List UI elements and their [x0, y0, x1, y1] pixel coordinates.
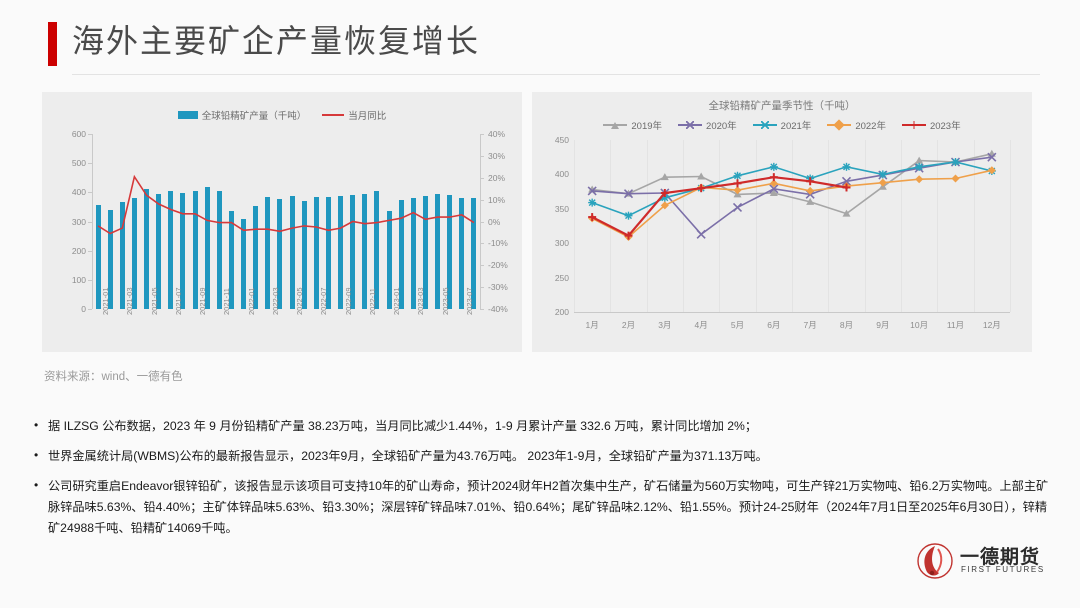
yoy-line-series	[92, 134, 480, 309]
line-swatch-icon	[902, 120, 926, 130]
data-point-marker	[588, 199, 596, 207]
x-axis-tick-label: 5月	[722, 319, 754, 331]
brand-logo: 一德期货 FIRST FUTURES	[916, 540, 1056, 586]
line-swatch-icon	[678, 120, 702, 130]
x-axis-tick-label: 1月	[576, 319, 608, 331]
data-point-marker	[988, 150, 996, 157]
x-axis-tick-label: 2021-03	[125, 287, 134, 315]
left-chart-legend: 全球铅精矿产量（千吨）当月同比	[42, 108, 522, 122]
y2-axis-tick-label: 20%	[488, 173, 518, 183]
x-axis-tick-label: 3月	[649, 319, 681, 331]
x-axis-tick-label: 11月	[940, 319, 972, 331]
y2-axis-tick-label: 10%	[488, 195, 518, 205]
y-axis-tick-label: 0	[60, 304, 86, 314]
x-axis-tick-label: 2022-05	[295, 287, 304, 315]
data-point-marker	[770, 173, 778, 181]
logo-emblem-icon	[916, 542, 954, 580]
x-axis-tick-label: 2022-01	[247, 287, 256, 315]
x-axis-tick-label: 7月	[794, 319, 826, 331]
x-axis-line	[574, 312, 1010, 313]
y2-axis-tick-label: 0%	[488, 217, 518, 227]
right-chart-plot: 2002503003504004501月2月3月4月5月6月7月8月9月10月1…	[574, 140, 1010, 312]
title-divider	[72, 74, 1040, 75]
x-axis-tick-label: 10月	[903, 319, 935, 331]
x-axis-tick-label: 2022-07	[319, 287, 328, 315]
data-point-marker	[625, 212, 633, 220]
right-chart-legend: 2019年2020年2021年2022年2023年	[532, 118, 1032, 132]
x-axis-tick-label: 2021-05	[150, 287, 159, 315]
list-item: 公司研究重启Endeavor银锌铅矿，该报告显示该项目可支持10年的矿山寿命，预…	[30, 476, 1050, 539]
left-chart-plot: 0100200300400500600-40%-30%-20%-10%0%10%…	[92, 134, 480, 309]
y-axis-tick-label: 100	[60, 275, 86, 285]
y-axis-tick-label: 400	[544, 169, 569, 179]
y-axis-tick-label: 500	[60, 158, 86, 168]
y-axis-tick-label: 600	[60, 129, 86, 139]
legend-label: 2021年	[781, 118, 812, 132]
legend-item-line: 当月同比	[322, 108, 386, 122]
legend-label: 2022年	[855, 118, 886, 132]
grid-line	[1010, 140, 1011, 312]
x-axis-tick-label: 2022-09	[344, 287, 353, 315]
line-swatch-icon	[753, 120, 777, 130]
x-axis-tick-label: 2023-05	[441, 287, 450, 315]
x-axis-tick-label: 2022-11	[368, 288, 377, 315]
y2-axis-tick-mark	[480, 309, 484, 310]
right-chart-title: 全球铅精矿产量季节性（千吨）	[532, 98, 1032, 113]
data-point-marker	[734, 179, 742, 187]
line-2020年	[592, 157, 992, 234]
data-point-marker	[952, 175, 960, 183]
x-axis-tick-label: 2023-07	[465, 287, 474, 315]
bar-swatch-icon	[178, 111, 198, 119]
y2-axis-tick-label: 40%	[488, 129, 518, 139]
list-item: 世界金属统计局(WBMS)公布的最新报告显示，2023年9月，全球铅矿产量为43…	[30, 446, 1050, 467]
y2-axis-tick-label: -30%	[488, 282, 518, 292]
data-point-marker	[843, 163, 851, 171]
x-axis-tick-label: 2021-01	[101, 287, 110, 315]
x-axis-tick-label: 2021-11	[222, 288, 231, 315]
logo-text-en: FIRST FUTURES	[961, 565, 1045, 574]
legend-item-bars: 全球铅精矿产量（千吨）	[178, 108, 307, 122]
legend-label: 2020年	[706, 118, 737, 132]
x-axis-tick-label: 2022-03	[271, 287, 280, 315]
line-swatch-icon	[322, 114, 344, 116]
y-axis-right-line	[480, 134, 481, 309]
y-axis-tick-label: 300	[60, 217, 86, 227]
seasonality-series-layer	[574, 140, 1010, 312]
data-point-marker	[915, 163, 923, 171]
x-axis-tick-label: 6月	[758, 319, 790, 331]
y2-axis-tick-label: -20%	[488, 260, 518, 270]
title-accent-bar	[48, 22, 57, 66]
legend-item-2023年: 2023年	[902, 118, 961, 132]
left-chart-panel: 全球铅精矿产量（千吨）当月同比 0100200300400500600-40%-…	[42, 92, 522, 352]
list-item: 据 ILZSG 公布数据，2023 年 9 月份铅精矿产量 38.23万吨，当月…	[30, 416, 1050, 437]
legend-item-2022年: 2022年	[827, 118, 886, 132]
x-axis-tick-label: 4月	[685, 319, 717, 331]
slide-header: 海外主要矿企产量恢复增长	[0, 18, 1080, 70]
y-axis-tick-label: 200	[544, 307, 569, 317]
legend-item-2021年: 2021年	[753, 118, 812, 132]
legend-label: 2019年	[631, 118, 662, 132]
line-swatch-icon	[603, 120, 627, 130]
x-axis-tick-label: 2023-01	[392, 287, 401, 315]
y2-axis-tick-label: -10%	[488, 238, 518, 248]
slide: 海外主要矿企产量恢复增长 全球铅精矿产量（千吨）当月同比 01002003004…	[0, 0, 1080, 608]
y2-axis-tick-label: 30%	[488, 151, 518, 161]
y2-axis-tick-label: -40%	[488, 304, 518, 314]
x-axis-tick-label: 9月	[867, 319, 899, 331]
y-axis-tick-mark	[88, 309, 92, 310]
data-point-marker	[915, 175, 923, 183]
y-axis-tick-label: 400	[60, 187, 86, 197]
line-2023年	[592, 177, 846, 235]
legend-label: 当月同比	[348, 108, 386, 122]
x-axis-tick-label: 8月	[831, 319, 863, 331]
y-axis-tick-label: 450	[544, 135, 569, 145]
data-point-marker	[770, 163, 778, 171]
data-point-marker	[734, 203, 742, 211]
y-axis-tick-label: 350	[544, 204, 569, 214]
x-axis-tick-label: 2023-03	[416, 287, 425, 315]
page-title: 海外主要矿企产量恢复增长	[72, 18, 480, 64]
x-axis-tick-label: 2月	[613, 319, 645, 331]
x-axis-tick-label: 2021-09	[198, 287, 207, 315]
y-axis-tick-label: 300	[544, 238, 569, 248]
bullet-list: 据 ILZSG 公布数据，2023 年 9 月份铅精矿产量 38.23万吨，当月…	[30, 416, 1050, 548]
y-axis-tick-label: 250	[544, 273, 569, 283]
data-point-marker	[952, 158, 960, 166]
legend-item-2019年: 2019年	[603, 118, 662, 132]
y-axis-tick-label: 200	[60, 246, 86, 256]
line-swatch-icon	[827, 120, 851, 130]
x-axis-tick-label: 12月	[976, 319, 1008, 331]
legend-label: 2023年	[930, 118, 961, 132]
data-point-marker	[697, 230, 705, 238]
legend-label: 全球铅精矿产量（千吨）	[202, 108, 307, 122]
data-point-marker	[734, 172, 742, 180]
x-axis-tick-label: 2021-07	[174, 287, 183, 315]
right-chart-panel: 全球铅精矿产量季节性（千吨） 2019年2020年2021年2022年2023年…	[532, 92, 1032, 352]
data-point-marker	[879, 170, 887, 178]
legend-item-2020年: 2020年	[678, 118, 737, 132]
source-note: 资料来源：wind、一德有色	[44, 368, 183, 384]
